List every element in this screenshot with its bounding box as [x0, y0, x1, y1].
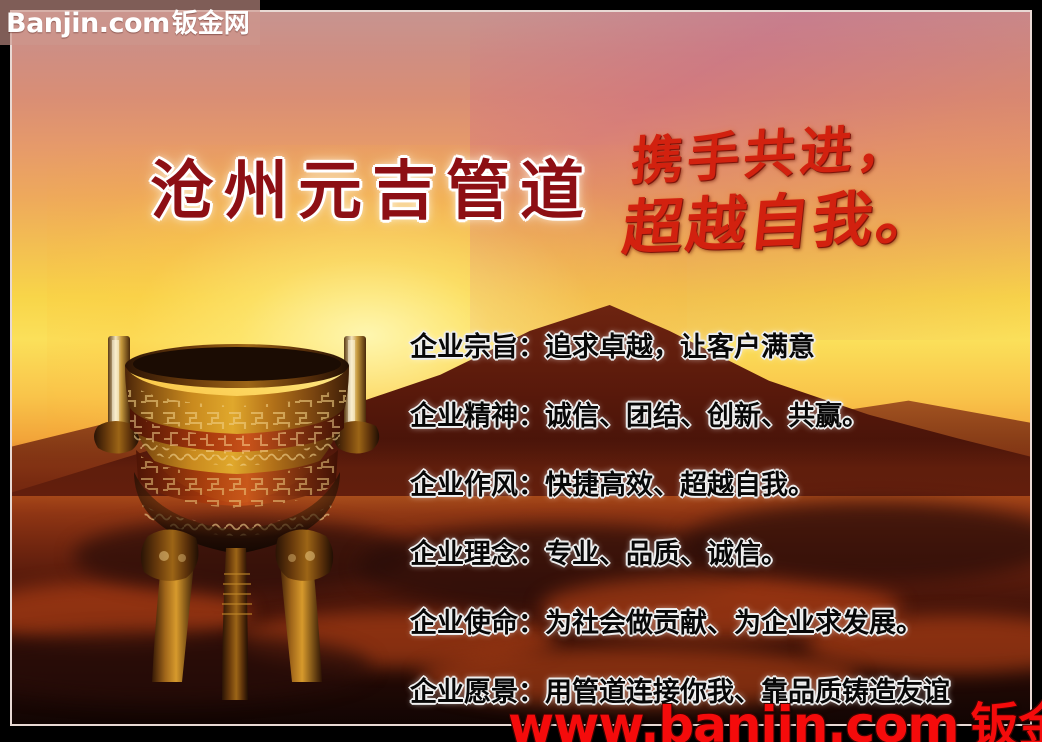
- site-watermark-cjk: 钣金网: [172, 9, 250, 39]
- page-title: 沧州元吉管道: [150, 140, 594, 232]
- calligraphy-slogan: 携手共进， 超越自我。: [624, 116, 1032, 256]
- poster-frame: 沧州元吉管道 携手共进， 超越自我。 企业宗旨：追求卓越，让客户满意 企业精神：…: [10, 10, 1032, 726]
- statement-purpose: 企业宗旨：追求卓越，让客户满意: [410, 334, 1030, 361]
- site-watermark-bottom: www.banjin.com钣金: [508, 686, 1042, 742]
- statement-style: 企业作风：快捷高效、超越自我。: [410, 472, 1030, 499]
- site-watermark-top: Banjin.com钣金网: [0, 0, 260, 45]
- bronze-ding-tripod-cauldron-icon: [72, 322, 402, 722]
- site-watermark-latin: Banjin.com: [6, 8, 170, 39]
- poster-canvas: 沧州元吉管道 携手共进， 超越自我。 企业宗旨：追求卓越，让客户满意 企业精神：…: [0, 0, 1042, 742]
- corporate-values-list: 企业宗旨：追求卓越，让客户满意 企业精神：诚信、团结、创新、共赢。 企业作风：快…: [410, 334, 1030, 706]
- site-watermark-bottom-cjk: 钣金: [970, 698, 1042, 742]
- ding-leg-right: [276, 529, 334, 682]
- ding-leg-center: [222, 548, 252, 700]
- site-watermark-bottom-latin: www.banjin.com: [508, 696, 958, 742]
- statement-concept: 企业理念：专业、品质、诚信。: [410, 541, 1030, 568]
- slogan-line-2: 超越自我。: [619, 168, 944, 267]
- statement-mission: 企业使命：为社会做贡献、为企业求发展。: [410, 610, 1030, 637]
- statement-spirit: 企业精神：诚信、团结、创新、共赢。: [410, 403, 1030, 430]
- ding-leg-left: [141, 529, 199, 682]
